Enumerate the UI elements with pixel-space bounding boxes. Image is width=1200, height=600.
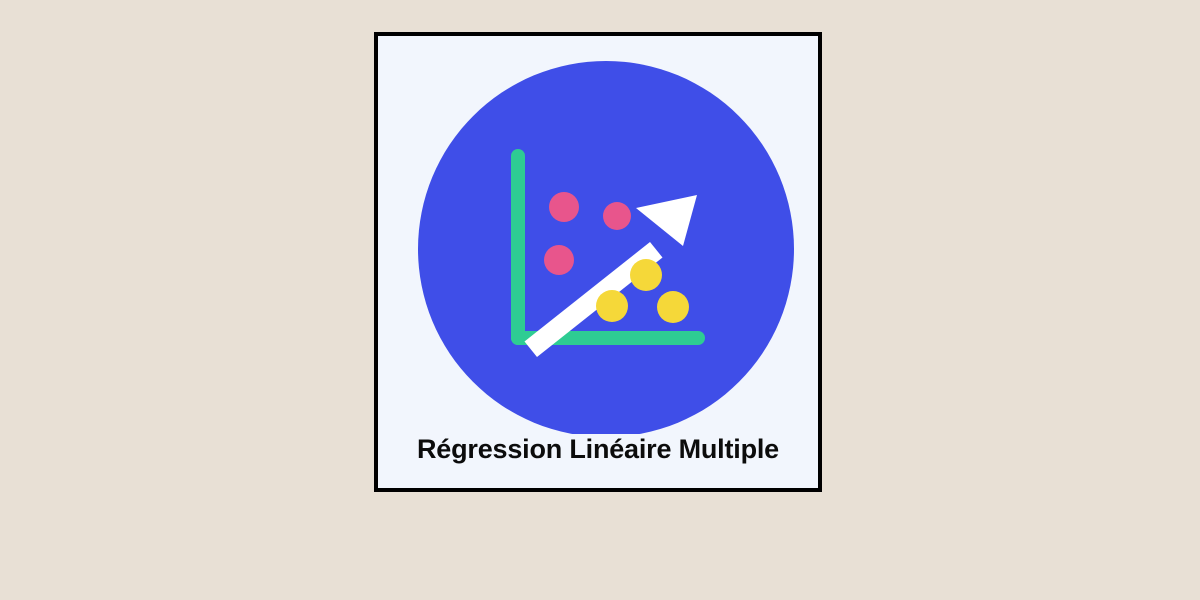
pink-point-3	[544, 245, 574, 275]
card-caption: Régression Linéaire Multiple	[378, 436, 818, 463]
regression-card: Régression Linéaire Multiple	[374, 32, 822, 492]
pink-point-1	[549, 192, 579, 222]
scatter-plot-graphic	[378, 36, 818, 434]
stage: Régression Linéaire Multiple	[0, 0, 1200, 600]
blue-circle-backdrop	[418, 61, 794, 434]
illustration-area	[378, 36, 818, 434]
yellow-point-2	[596, 290, 628, 322]
yellow-point-1	[630, 259, 662, 291]
yellow-point-3	[657, 291, 689, 323]
pink-point-2	[603, 202, 631, 230]
